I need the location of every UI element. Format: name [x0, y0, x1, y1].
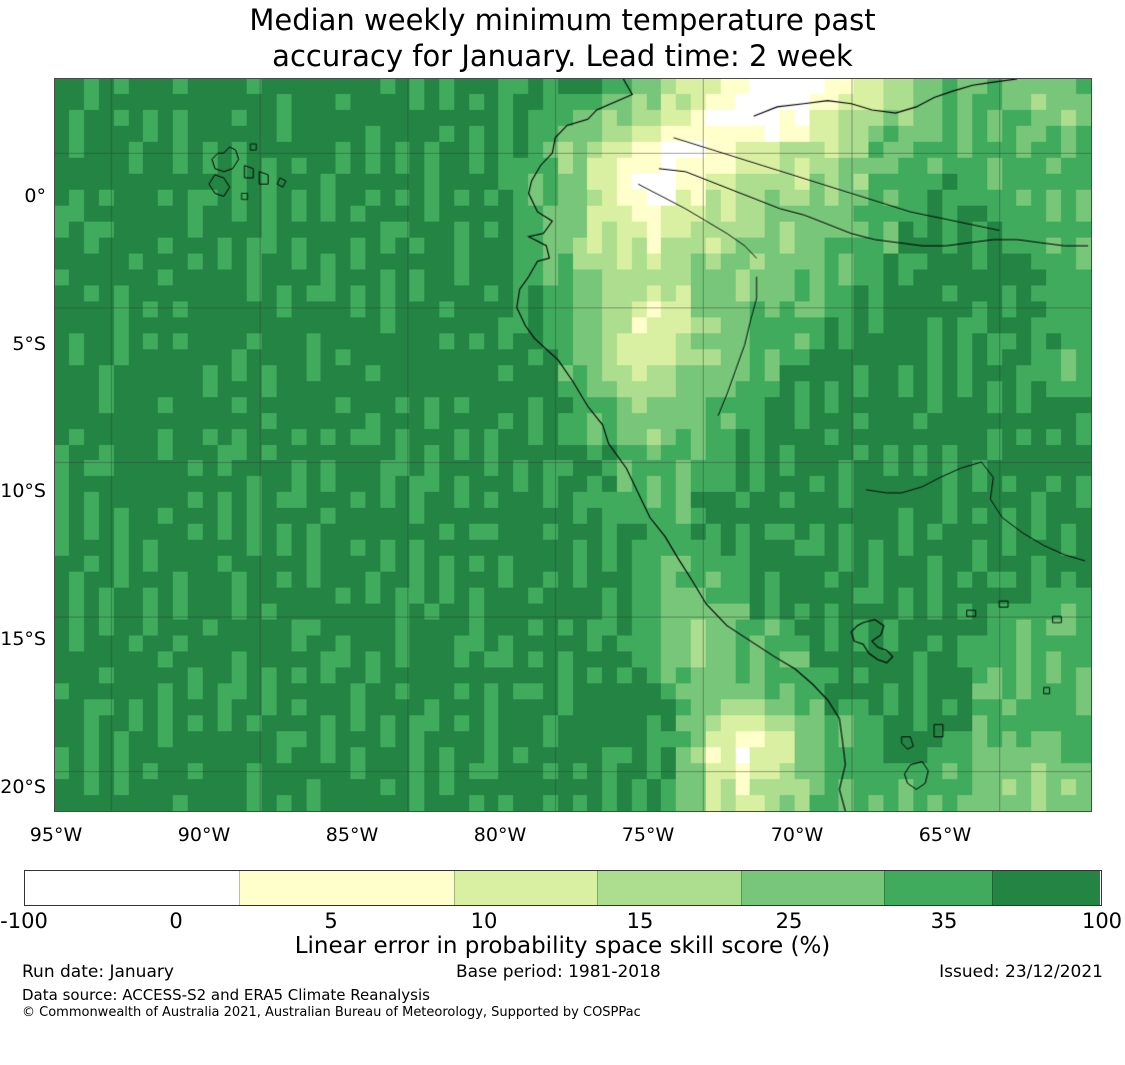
colorbar-segment	[454, 871, 597, 905]
skill-score-heatmap	[55, 79, 1091, 811]
xtick-label: 70°W	[727, 824, 867, 846]
colorbar-tick: 10	[424, 909, 544, 933]
ytick-label: 15°S	[0, 628, 46, 650]
colorbar-segment	[25, 871, 239, 905]
colorbar-tick: 35	[884, 909, 1004, 933]
data-source-text: Data source: ACCESS-S2 and ERA5 Climate …	[22, 986, 430, 1004]
colorbar-tick: 0	[116, 909, 236, 933]
xtick-label: 75°W	[578, 824, 718, 846]
xtick-label: 90°W	[134, 824, 274, 846]
ytick-label: 0°	[0, 185, 46, 207]
footer-row: Run date: January Base period: 1981-2018…	[0, 962, 1125, 984]
run-date-text: Run date: January	[22, 962, 174, 982]
base-period-text: Base period: 1981-2018	[456, 962, 661, 982]
colorbar-tick: -100	[0, 909, 84, 933]
ytick-label: 20°S	[0, 776, 46, 798]
colorbar-segment	[884, 871, 992, 905]
ytick-label: 10°S	[0, 480, 46, 502]
colorbar-segment	[992, 871, 1100, 905]
issued-date-text: Issued: 23/12/2021	[939, 962, 1103, 982]
colorbar-tick: 100	[1042, 909, 1125, 933]
xtick-label: 65°W	[875, 824, 1015, 846]
colorbar-tick: 5	[271, 909, 391, 933]
map-plot-area	[54, 78, 1092, 812]
colorbar-segment	[239, 871, 454, 905]
page-title: Median weekly minimum temperature past a…	[0, 2, 1125, 74]
ytick-label: 5°S	[0, 333, 46, 355]
colorbar	[24, 870, 1102, 906]
colorbar-label: Linear error in probability space skill …	[0, 933, 1125, 959]
colorbar-tick: 15	[580, 909, 700, 933]
xtick-label: 85°W	[282, 824, 422, 846]
colorbar-tick: 25	[729, 909, 849, 933]
xtick-label: 80°W	[430, 824, 570, 846]
colorbar-segment	[597, 871, 740, 905]
colorbar-segment	[741, 871, 884, 905]
xtick-label: 95°W	[0, 824, 126, 846]
copyright-text: © Commonwealth of Australia 2021, Austra…	[22, 1005, 641, 1020]
